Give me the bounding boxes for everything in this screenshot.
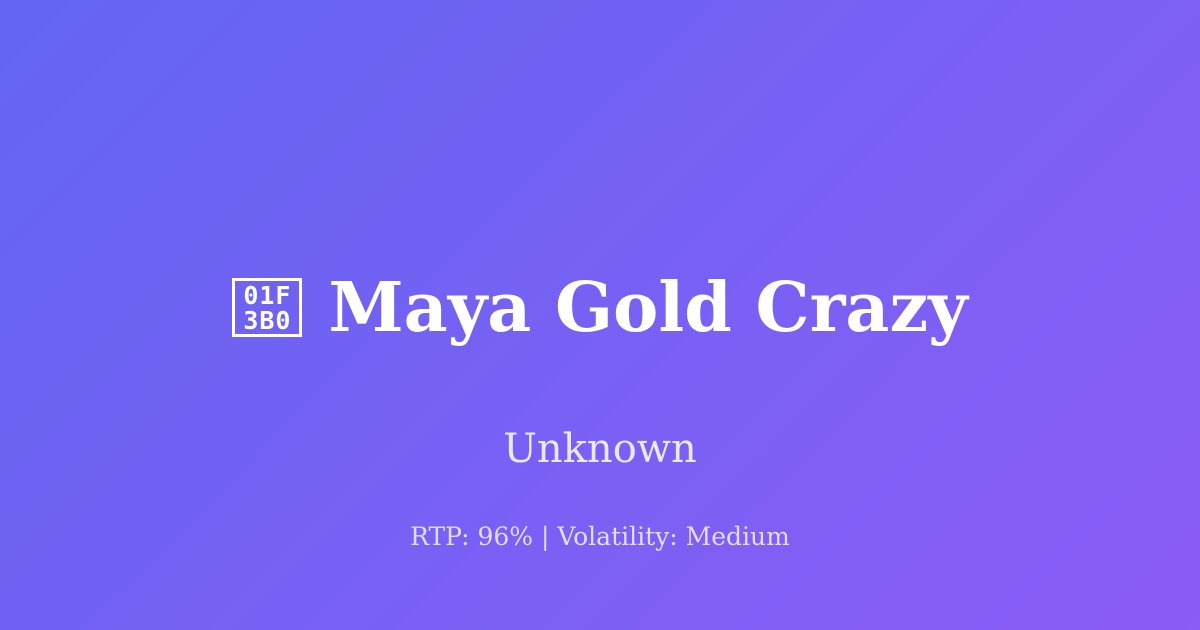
game-meta-line: RTP: 96% | Volatility: Medium (0, 524, 1200, 549)
glyph-codepoint-bottom: 3B0 (243, 308, 291, 333)
title-row: 01F 3B0 Maya Gold Crazy (232, 228, 967, 387)
slot-machine-icon: 01F 3B0 (232, 278, 302, 337)
page-subtitle: Unknown (503, 429, 697, 469)
page-title: Maya Gold Crazy (328, 274, 967, 342)
hero-block: 01F 3B0 Maya Gold Crazy Unknown (0, 228, 1200, 469)
glyph-codepoint-top: 01F (243, 283, 291, 308)
og-card: 01F 3B0 Maya Gold Crazy Unknown RTP: 96%… (0, 0, 1200, 630)
